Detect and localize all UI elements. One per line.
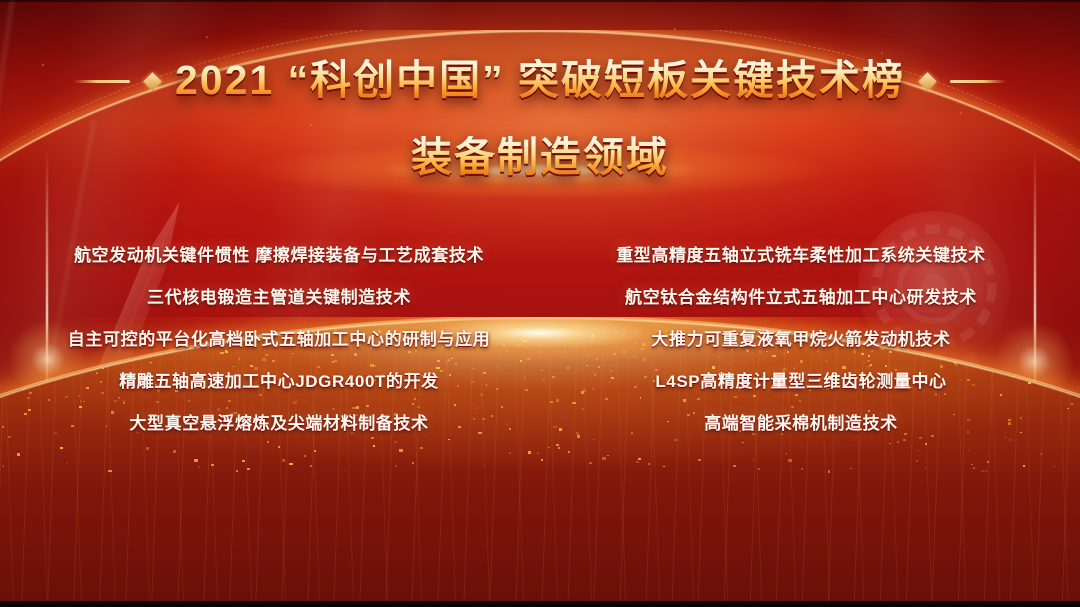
list-item: 大推力可重复液氧甲烷火箭发动机技术 bbox=[566, 316, 1036, 358]
technology-list-left-column: 航空发动机关键件惯性 摩擦焊接装备与工艺成套技术 三代核电锻造主管道关键制造技术… bbox=[44, 232, 514, 442]
list-item: 大型真空悬浮熔炼及尖端材料制备技术 bbox=[44, 400, 514, 442]
diamond-ornament-right bbox=[918, 72, 936, 90]
diamond-ornament-left bbox=[143, 72, 161, 90]
title-block: 2021 “科创中国” 突破短板关键技术榜 装备制造领域 bbox=[0, 32, 1080, 214]
title-row-primary: 2021 “科创中国” 突破短板关键技术榜 bbox=[0, 32, 1080, 130]
list-item: 三代核电锻造主管道关键制造技术 bbox=[44, 274, 514, 316]
ornament-line-left bbox=[74, 80, 130, 83]
list-item: 航空发动机关键件惯性 摩擦焊接装备与工艺成套技术 bbox=[44, 232, 514, 274]
bottom-letterbox bbox=[0, 601, 1080, 607]
ornament-line-right bbox=[950, 80, 1006, 83]
poster-canvas: 2021 “科创中国” 突破短板关键技术榜 装备制造领域 航空发动机关键件惯性 … bbox=[0, 0, 1080, 607]
list-item: L4SP高精度计量型三维齿轮测量中心 bbox=[566, 358, 1036, 400]
ember-particle bbox=[674, 28, 676, 30]
list-item: 重型高精度五轴立式铣车柔性加工系统关键技术 bbox=[566, 232, 1036, 274]
page-subtitle: 装备制造领域 bbox=[0, 136, 1080, 179]
page-title: 2021 “科创中国” 突破短板关键技术榜 bbox=[175, 59, 905, 102]
list-item: 高端智能采棉机制造技术 bbox=[566, 400, 1036, 442]
technology-list-right-column: 重型高精度五轴立式铣车柔性加工系统关键技术 航空钛合金结构件立式五轴加工中心研发… bbox=[566, 232, 1036, 442]
technology-list: 航空发动机关键件惯性 摩擦焊接装备与工艺成套技术 三代核电锻造主管道关键制造技术… bbox=[0, 232, 1080, 442]
list-item: 航空钛合金结构件立式五轴加工中心研发技术 bbox=[566, 274, 1036, 316]
top-letterbox bbox=[0, 0, 1080, 2]
list-item: 精雕五轴高速加工中心JDGR400T的开发 bbox=[44, 358, 514, 400]
list-item: 自主可控的平台化高档卧式五轴加工中心的研制与应用 bbox=[44, 316, 514, 358]
